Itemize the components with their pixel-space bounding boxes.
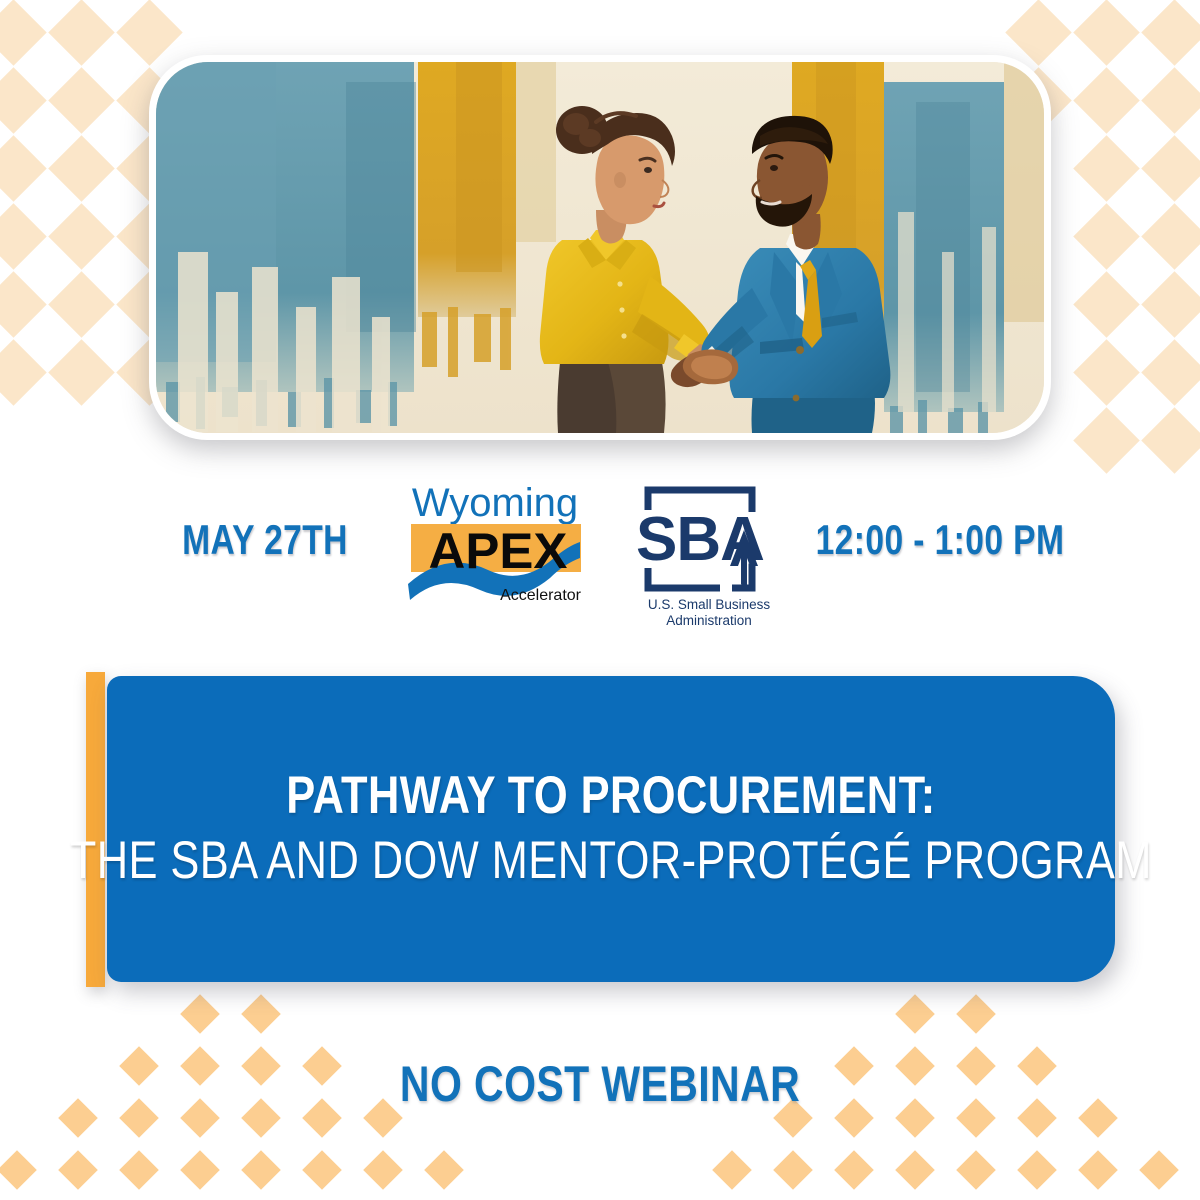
diamond-shape [116, 0, 182, 65]
diamond-shape [58, 1150, 98, 1190]
diamond-shape [48, 339, 114, 405]
banner-title-line1: PATHWAY TO PROCUREMENT: [286, 766, 935, 825]
diamond-shape [1073, 135, 1139, 201]
no-cost-webinar-text: NO COST WEBINAR [400, 1055, 800, 1113]
webinar-promo-poster: MAY 27TH Wyoming APEX Accelerator SBA [0, 0, 1200, 1200]
wyoming-apex-accelerator-logo: Wyoming APEX Accelerator [396, 480, 594, 605]
diamond-shape [0, 1150, 36, 1190]
diamond-shape [1141, 271, 1200, 337]
hero-illustration [156, 62, 1044, 433]
event-meta-row: MAY 27TH Wyoming APEX Accelerator SBA [0, 462, 1200, 642]
diamond-shape [48, 135, 114, 201]
diamond-shape [1005, 0, 1071, 65]
diamond-shape [895, 994, 935, 1034]
diamond-shape [1141, 339, 1200, 405]
diamond-shape [1139, 1150, 1179, 1190]
diamond-shape [0, 135, 46, 201]
diamond-shape [302, 1150, 342, 1190]
diamond-shape [1017, 1150, 1057, 1190]
sba-logo: SBA U.S. Small Business Administration [628, 478, 790, 628]
apex-logo-svg: Wyoming APEX Accelerator [396, 480, 594, 605]
diamond-shape [119, 1150, 159, 1190]
diamond-shape [0, 0, 46, 65]
apex-wordmark-main: APEX [429, 522, 568, 578]
diamond-shape [48, 0, 114, 65]
diamond-shape [1073, 339, 1139, 405]
sba-caption-line2: Administration [666, 613, 752, 628]
diamond-shape [895, 1150, 935, 1190]
diamond-shape [363, 1150, 403, 1190]
diamond-shape [1141, 203, 1200, 269]
diamond-shape [48, 271, 114, 337]
hero-image-card [149, 55, 1051, 440]
diamond-shape [424, 1150, 464, 1190]
diamond-shape [773, 1150, 813, 1190]
title-banner: PATHWAY TO PROCUREMENT: THE SBA AND DOW … [107, 676, 1115, 982]
apex-wordmark-top: Wyoming [412, 481, 578, 525]
diamond-shape [1073, 271, 1139, 337]
diamond-shape [0, 67, 46, 133]
diamond-shape [956, 994, 996, 1034]
diamond-shape [1078, 1150, 1118, 1190]
diamond-shape [0, 271, 46, 337]
diamond-shape [1073, 203, 1139, 269]
diamond-shape [180, 1150, 220, 1190]
diamond-shape [0, 339, 46, 405]
diamond-shape [241, 994, 281, 1034]
diamond-shape [48, 67, 114, 133]
apex-wordmark-bottom: Accelerator [500, 587, 582, 604]
hero-artwork-svg [156, 62, 1044, 433]
diamond-shape [712, 1150, 752, 1190]
diamond-shape [956, 1150, 996, 1190]
diamond-shape [1073, 67, 1139, 133]
event-time: 12:00 - 1:00 PM [812, 516, 1068, 564]
event-date: MAY 27TH [149, 516, 381, 564]
diamond-shape [1141, 67, 1200, 133]
diamond-shape [241, 1150, 281, 1190]
diamond-shape [0, 203, 46, 269]
diamond-shape [1073, 0, 1139, 65]
no-cost-webinar-label: NO COST WEBINAR [0, 1055, 1200, 1113]
diamond-shape [1141, 0, 1200, 65]
sba-caption-line1: U.S. Small Business [648, 597, 771, 612]
sba-logo-svg: SBA U.S. Small Business Administration [628, 478, 790, 628]
banner-title-line2: THE SBA AND DOW MENTOR-PROTÉGÉ PROGRAM [70, 829, 1152, 893]
diamond-shape [1141, 135, 1200, 201]
diamond-shape [180, 994, 220, 1034]
diamond-shape [834, 1150, 874, 1190]
diamond-shape [48, 203, 114, 269]
